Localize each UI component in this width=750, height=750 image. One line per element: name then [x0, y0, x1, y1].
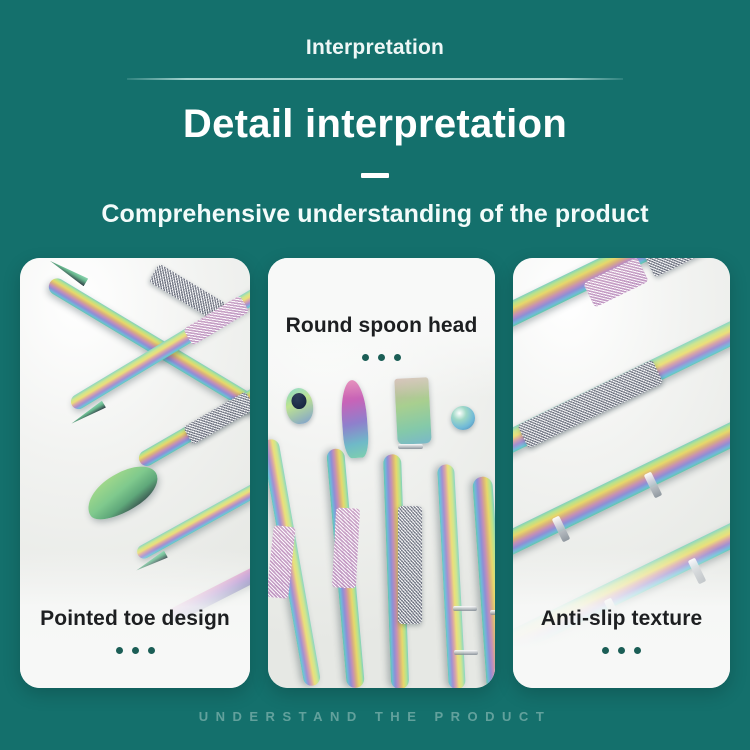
header-divider — [127, 78, 623, 80]
tool-shaft — [472, 476, 495, 688]
knurled-grip — [517, 360, 663, 449]
feature-card-anti-slip[interactable]: Anti-slip texture — [513, 258, 730, 688]
footer-tagline: UNDERSTAND THE PRODUCT — [0, 709, 750, 724]
spear-bulb-tip — [79, 457, 166, 529]
knurled-grip — [183, 391, 250, 444]
card-label-round-spoon: Round spoon head — [268, 314, 495, 361]
title-accent-dash — [361, 173, 389, 178]
round-scoop-head — [284, 387, 315, 426]
card-label-text: Pointed toe design — [20, 607, 250, 631]
dot — [602, 647, 609, 654]
collar-ring — [453, 606, 477, 611]
dot — [378, 354, 385, 361]
dot — [362, 354, 369, 361]
card-label-pointed-toe: Pointed toe design — [20, 607, 250, 654]
ball-tip-head — [451, 406, 475, 430]
page-title: Detail interpretation — [0, 102, 750, 147]
page-header: Interpretation Detail interpretation Com… — [0, 0, 750, 229]
dot — [394, 354, 401, 361]
jewel-band — [332, 507, 360, 588]
dot — [116, 647, 123, 654]
eyebrow-text: Interpretation — [0, 36, 750, 60]
curved-spoon-head — [339, 379, 369, 459]
collar-ring — [398, 444, 423, 449]
dot — [132, 647, 139, 654]
dot-indicator — [513, 647, 730, 654]
dot — [148, 647, 155, 654]
card-label-anti-slip: Anti-slip texture — [513, 607, 730, 654]
collar-ring — [454, 650, 478, 655]
dot — [634, 647, 641, 654]
card-label-text: Round spoon head — [268, 314, 495, 338]
collar-ring — [490, 610, 495, 615]
knurled-grip — [643, 258, 730, 278]
feature-card-pointed-toe[interactable]: Pointed toe design — [20, 258, 250, 688]
dot-indicator — [20, 647, 250, 654]
dot — [618, 647, 625, 654]
scoop-cavity — [291, 392, 308, 409]
page-subtitle: Comprehensive understanding of the produ… — [0, 200, 750, 229]
dot-indicator — [268, 354, 495, 361]
flat-spatula-head — [394, 377, 431, 445]
feature-card-row: Pointed toe design — [20, 258, 730, 688]
knurled-grip — [398, 506, 422, 624]
card-label-text: Anti-slip texture — [513, 607, 730, 631]
feature-card-round-spoon[interactable]: Round spoon head — [268, 258, 495, 688]
